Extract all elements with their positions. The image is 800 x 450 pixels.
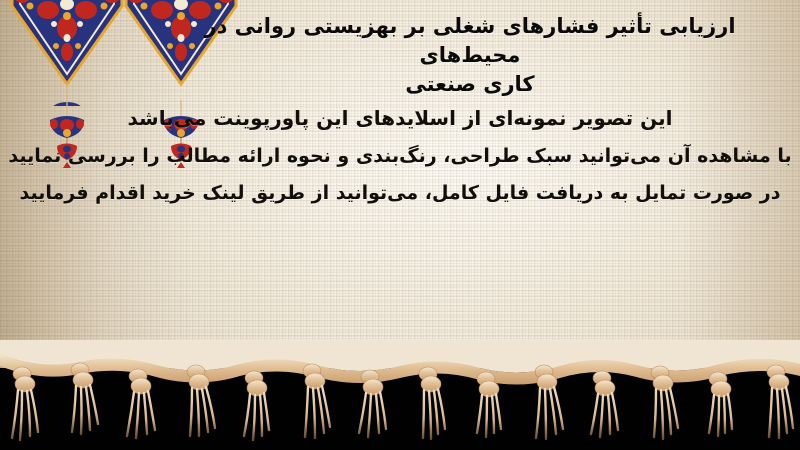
body-line-1: این تصویر نمونه‌ای از اسلایدهای این پاور… [0, 108, 800, 128]
slide-title-line-1: ارزیابی تأثیر فشارهای شغلی بر بهزیستی رو… [170, 12, 770, 70]
slide-title: ارزیابی تأثیر فشارهای شغلی بر بهزیستی رو… [170, 12, 770, 99]
slide-title-line-2: کاری صنعتی [170, 70, 770, 99]
presentation-slide: ارزیابی تأثیر فشارهای شغلی بر بهزیستی رو… [0, 0, 800, 450]
slide-body: این تصویر نمونه‌ای از اسلایدهای این پاور… [0, 108, 800, 203]
carpet-fringe-tassels [0, 340, 800, 450]
body-line-3: در صورت تمایل به دریافت فایل کامل، می‌تو… [0, 184, 800, 203]
fringe-threads [0, 340, 800, 450]
persian-medallion-motif-left [8, 0, 126, 106]
body-line-2: با مشاهده آن می‌توانید سبک طراحی، رنگ‌بن… [0, 147, 800, 166]
